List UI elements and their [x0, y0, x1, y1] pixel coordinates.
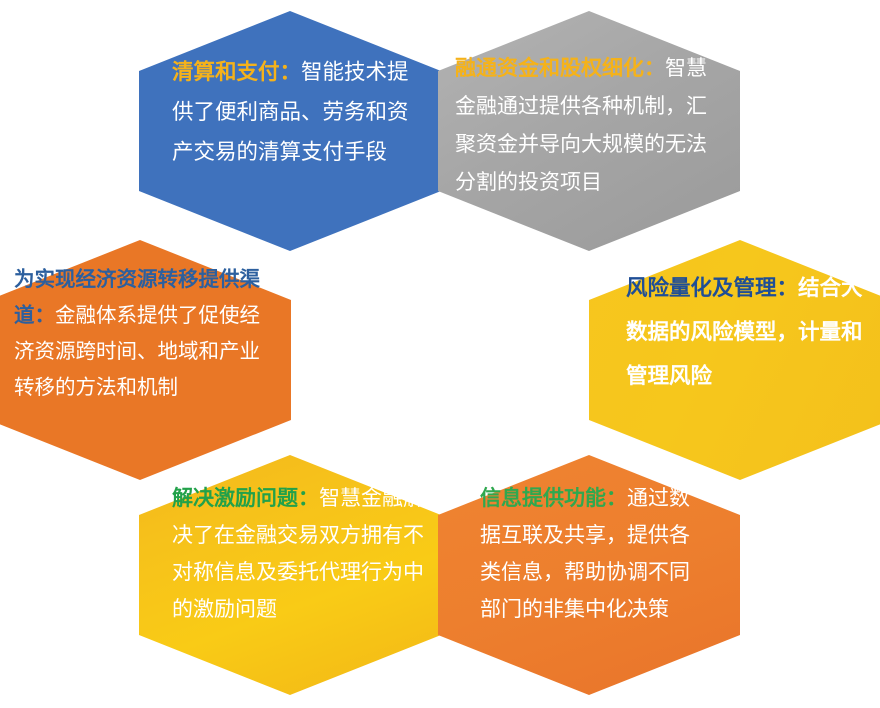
hexagon-diagram-canvas: 清算和支付：智能技术提供了便利商品、劳务和资产交易的清算支付手段 融通资金和股权… [0, 0, 880, 708]
hexagon-text-incentive-problem: 解决激励问题：智慧金融解决了在金融交易双方拥有不对称信息及委托代理行为中的激励问… [172, 480, 424, 628]
hexagon-heading-funding-and-equity: 融通资金和股权细化： [455, 57, 665, 80]
hexagon-text-information-provision: 信息提供功能：通过数据互联及共享，提供各类信息，帮助协调不同部门的非集中化决策 [480, 480, 708, 628]
hexagon-heading-risk-quantification: 风险量化及管理： [626, 276, 798, 300]
hexagon-text-clearing-and-payment: 清算和支付：智能技术提供了便利商品、劳务和资产交易的清算支付手段 [172, 52, 424, 172]
hexagon-heading-information-provision: 信息提供功能： [480, 487, 627, 510]
hexagon-text-risk-quantification: 风险量化及管理：结合大数据的风险模型，计量和管理风险 [626, 266, 866, 398]
hexagon-heading-incentive-problem: 解决激励问题： [172, 487, 319, 510]
hexagon-text-resource-transfer-channel: 为实现经济资源转移提供渠道：金融体系提供了促使经济资源跨时间、地域和产业转移的方… [14, 262, 278, 406]
hexagon-heading-clearing-and-payment: 清算和支付： [172, 60, 301, 84]
hexagon-text-funding-and-equity: 融通资金和股权细化：智慧金融通过提供各种机制，汇聚资金并导向大规模的无法分割的投… [455, 50, 727, 202]
